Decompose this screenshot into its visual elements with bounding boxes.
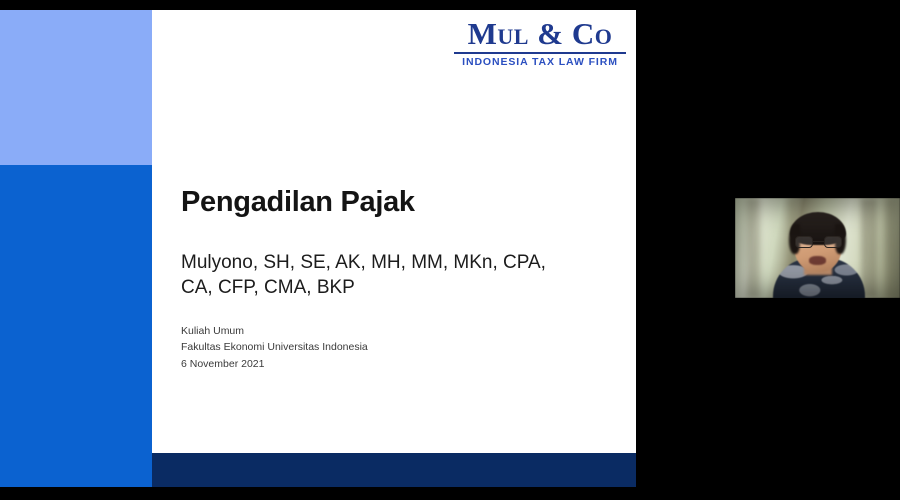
- logo-tagline: INDONESIA TAX LAW FIRM: [454, 57, 626, 68]
- event-type: Kuliah Umum: [181, 323, 368, 339]
- logo-letter-c: C: [572, 16, 595, 51]
- logo-letter-m: M: [468, 16, 498, 51]
- company-logo: MUL & CO INDONESIA TAX LAW FIRM: [454, 18, 626, 68]
- eyeglass-bridge: [813, 241, 824, 242]
- slide-accent-rail-bottom: [0, 165, 152, 487]
- slide-presenter-name: Mulyono, SH, SE, AK, MH, MM, MKn, CPA, C…: [181, 250, 581, 300]
- presentation-slide[interactable]: MUL & CO INDONESIA TAX LAW FIRM Pengadil…: [0, 10, 636, 487]
- screen-share-stage: MUL & CO INDONESIA TAX LAW FIRM Pengadil…: [0, 0, 900, 500]
- logo-letter-o: O: [595, 24, 613, 49]
- speaker-video-tile[interactable]: [735, 198, 900, 298]
- slide-footer-band: [152, 453, 636, 487]
- event-date: 6 November 2021: [181, 356, 368, 372]
- event-institution: Fakultas Ekonomi Universitas Indonesia: [181, 339, 368, 355]
- background-pillar: [885, 198, 895, 298]
- slide-accent-rail-top: [0, 10, 152, 165]
- eyeglass-lens: [795, 236, 813, 248]
- slide-event-details: Kuliah Umum Fakultas Ekonomi Universitas…: [181, 323, 368, 372]
- logo-letters-ul: UL: [497, 24, 529, 49]
- eyeglass-lens: [824, 236, 842, 248]
- background-pillar: [747, 198, 760, 298]
- eyeglasses-icon: [795, 236, 842, 248]
- logo-wordmark: MUL & CO: [454, 18, 626, 49]
- background-pillar: [861, 198, 877, 298]
- logo-divider-rule: [454, 52, 626, 54]
- slide-title: Pengadilan Pajak: [181, 186, 415, 219]
- speaker-mouth: [809, 256, 826, 265]
- logo-ampersand: &: [537, 16, 563, 51]
